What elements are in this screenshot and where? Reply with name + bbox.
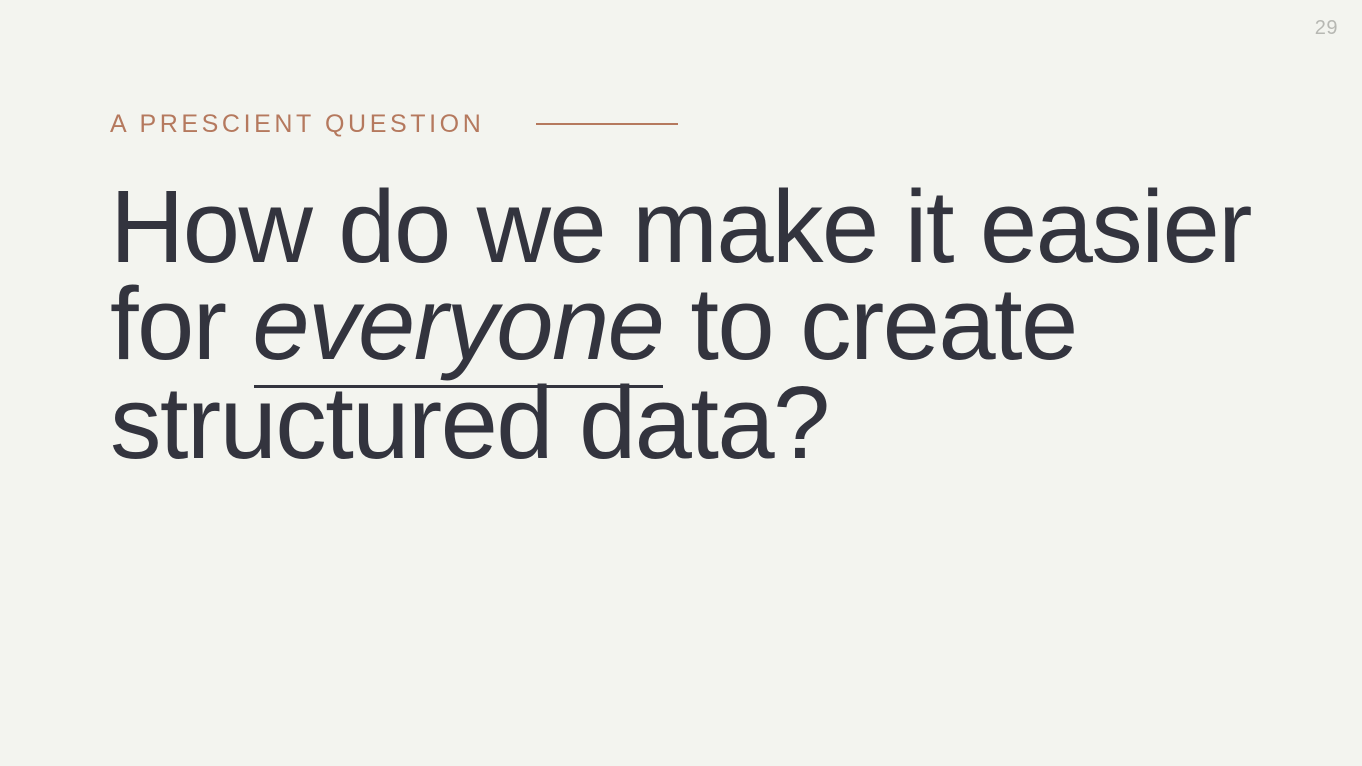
slide: 29 A PRESCIENT QUESTION How do we make i…: [0, 0, 1362, 766]
page-number: 29: [1315, 18, 1338, 38]
headline-line-2: for everyone to create: [110, 275, 1260, 374]
headline-line-3-text: structured data?: [110, 365, 829, 480]
page-title: How do we make it easierfor everyone to …: [110, 178, 1260, 471]
headline-line-2-prefix: for: [110, 266, 252, 381]
headline-emphasis-word: everyone: [252, 275, 663, 374]
headline-line-1: How do we make it easier: [110, 178, 1260, 275]
horizontal-rule-icon: [536, 123, 678, 125]
headline-line-2-suffix: to create: [663, 266, 1076, 381]
eyebrow: A PRESCIENT QUESTION: [110, 107, 678, 141]
eyebrow-label: A PRESCIENT QUESTION: [110, 107, 484, 141]
headline-line-3: structured data?: [110, 374, 1260, 471]
